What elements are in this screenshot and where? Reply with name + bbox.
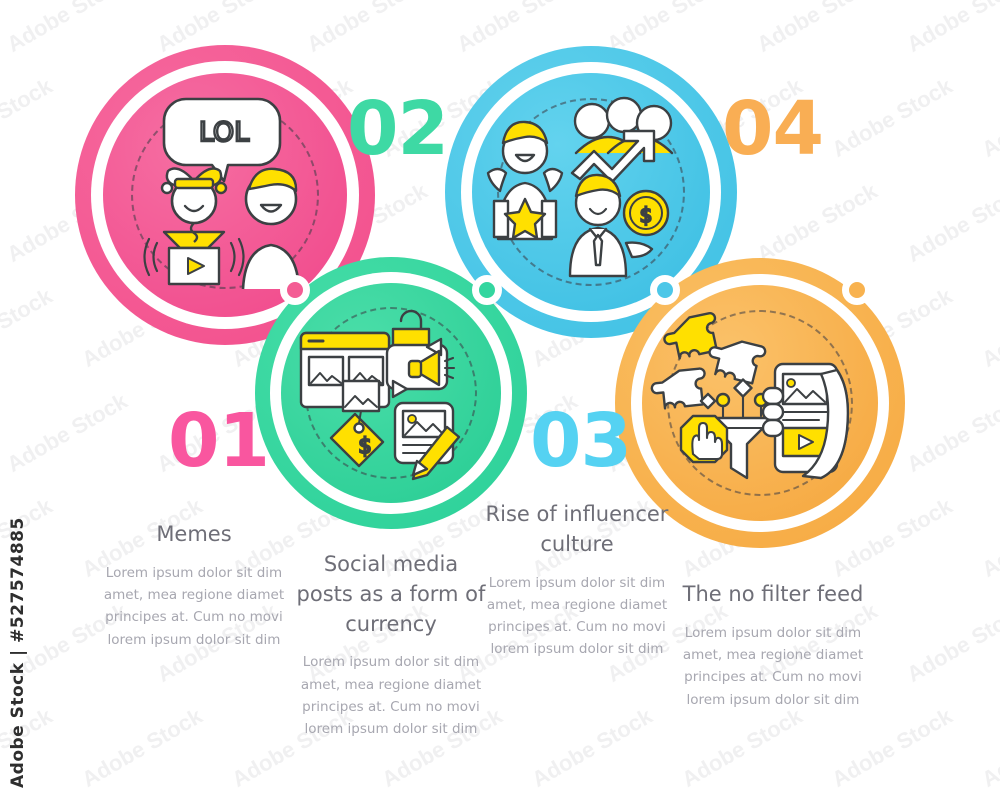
influencer-growth-icon: $ (490, 91, 692, 291)
watermark-tile: Adobe Stock (903, 178, 1000, 268)
watermark-tile: Adobe Stock (903, 388, 1000, 478)
watermark-tile: Adobe Stock (903, 0, 1000, 58)
step-text-04: The no filter feed Lorem ipsum dolor sit… (678, 580, 868, 711)
social-media-commerce-icon: $ (297, 305, 485, 485)
connector-green (472, 275, 502, 305)
step-body-04: Lorem ipsum dolor sit dim amet, mea regi… (678, 622, 868, 711)
watermark-tile: Adobe Stock (3, 0, 132, 58)
step-number-02: 02 (347, 92, 448, 166)
watermark-tile: Adobe Stock (903, 598, 1000, 688)
step-number-03: 03 (530, 404, 631, 478)
watermark-tile: Adobe Stock (303, 0, 432, 58)
step-number-01: 01 (168, 404, 269, 478)
connector-orange (842, 275, 872, 305)
adobe-stock-watermark: Adobe Stock | #527574885 (8, 758, 248, 788)
step-text-02: Social media posts as a form of currency… (296, 550, 486, 741)
watermark-tile: Adobe Stock (678, 703, 807, 793)
watermark-tile: Adobe Stock (0, 73, 57, 163)
watermark-tile: Adobe Stock (978, 703, 1000, 793)
dollar-glyph: $ (358, 434, 371, 458)
step-text-01: Memes Lorem ipsum dolor sit dim amet, me… (100, 520, 288, 651)
coin-dollar-glyph: $ (640, 203, 653, 227)
watermark-tile: Adobe Stock (753, 0, 882, 58)
connector-pink (280, 275, 310, 305)
connector-blue (650, 275, 680, 305)
watermark-tile: Adobe Stock (978, 283, 1000, 373)
watermark-tile: Adobe Stock (828, 73, 957, 163)
watermark-tile: Adobe Stock (978, 493, 1000, 583)
watermark-tile: Adobe Stock (528, 703, 657, 793)
infographic-canvas: Adobe StockAdobe StockAdobe StockAdobe S… (0, 0, 1000, 795)
step-title-02: Social media posts as a form of currency (296, 550, 486, 639)
step-body-03: Lorem ipsum dolor sit dim amet, mea regi… (478, 572, 676, 661)
meme-lol-jester-icon: LOL (131, 93, 321, 293)
watermark-tile: Adobe Stock (828, 703, 957, 793)
step-body-02: Lorem ipsum dolor sit dim amet, mea regi… (296, 651, 486, 740)
lol-text: LOL (199, 117, 249, 148)
step-number-04: 04 (722, 92, 823, 166)
step-title-04: The no filter feed (678, 580, 868, 610)
watermark-tile: Adobe Stock (978, 73, 1000, 163)
watermark-tile: Adobe Stock (753, 178, 882, 268)
step-text-03: Rise of influencer culture Lorem ipsum d… (478, 500, 676, 661)
watermark-tile: Adobe Stock (3, 388, 132, 478)
step-title-03: Rise of influencer culture (478, 500, 676, 560)
step-title-01: Memes (100, 520, 288, 550)
no-filter-feed-icon (663, 304, 859, 500)
watermark-tile: Adobe Stock (0, 283, 57, 373)
step-body-01: Lorem ipsum dolor sit dim amet, mea regi… (100, 562, 288, 651)
